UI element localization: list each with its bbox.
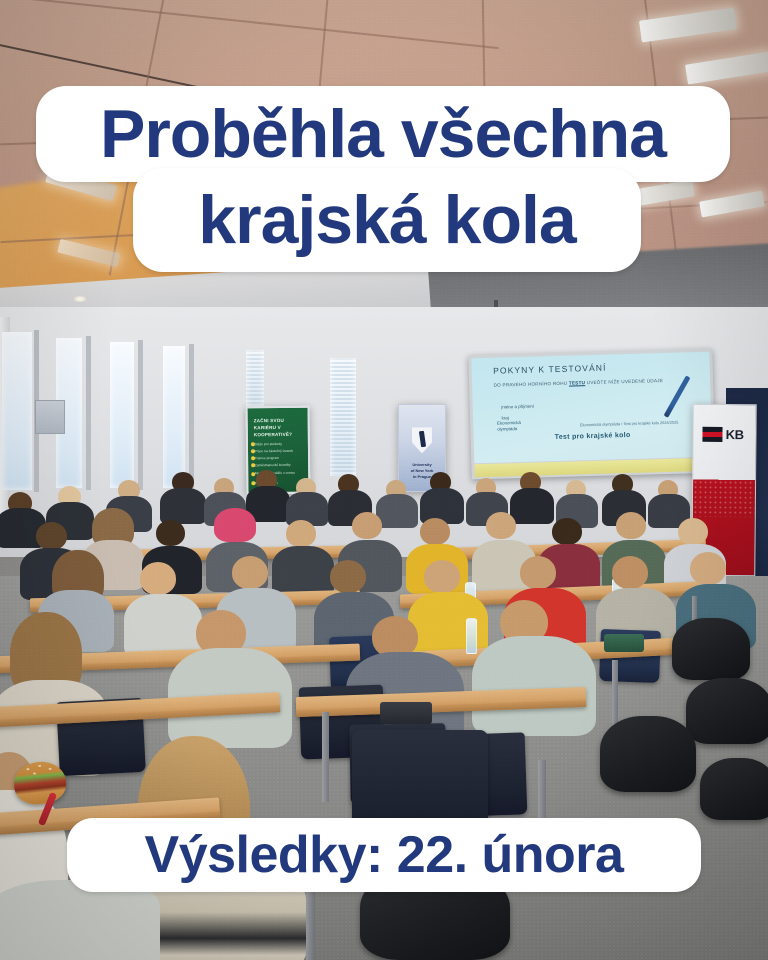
backpack: [700, 758, 768, 820]
footer-card: Výsledky: 22. února: [67, 818, 701, 892]
backpack: [672, 618, 750, 680]
desk-leg: [612, 660, 618, 730]
footer-text: Výsledky: 22. února: [145, 829, 624, 881]
window: [330, 358, 356, 476]
wall-panel-sign: [35, 400, 65, 434]
headline-card-line2: krajská kola: [133, 168, 641, 272]
pencil-case: [604, 634, 644, 652]
window-mullion: [86, 336, 91, 490]
projection-screen-content: POKYNY K TESTOVÁNÍ DO PRAVÉHO HORNÍHO RO…: [471, 352, 712, 464]
projection-screen: POKYNY K TESTOVÁNÍ DO PRAVÉHO HORNÍHO RO…: [468, 349, 715, 480]
screen-subtitle-strong: TESTU: [569, 380, 585, 385]
headline-line2-text: krajská kola: [198, 186, 575, 254]
kooperativa-item: Trainee program: [255, 456, 304, 461]
eo-logo-text: Ekonomická olympiáda: [497, 420, 521, 433]
window: [163, 346, 185, 488]
kooperativa-heading: ZAČNI SVOU KARIÉRU V KOOPERATIVĚ?: [254, 418, 303, 439]
screen-title: POKYNY K TESTOVÁNÍ: [493, 363, 607, 376]
screen-subtitle: DO PRAVÉHO HORNÍHO ROHU TESTU UVEĎTE NÍŽ…: [494, 377, 696, 390]
backpack: [686, 678, 768, 744]
kb-logo-text: KB: [726, 427, 744, 442]
water-bottle: [466, 618, 477, 654]
window-mullion: [189, 344, 194, 490]
backpack: [600, 716, 696, 792]
window: [110, 342, 134, 488]
window: [246, 350, 264, 406]
poster-image: EPSON POKYNY K TESTOVÁNÍ DO PRAVÉHO HORN…: [0, 0, 768, 960]
kooperativa-item: Zaměstnanecké benefity: [255, 463, 304, 468]
desk-leg: [322, 712, 329, 802]
downlight: [74, 296, 86, 302]
pencil-case: [380, 702, 432, 724]
kb-dot-pattern: [693, 480, 755, 518]
window: [2, 332, 32, 490]
kb-logo-icon: [702, 427, 722, 442]
kooperativa-item: Stáže pro studenty: [255, 442, 304, 447]
screen-footnote: Ekonomická olympiáda • Test pro krajské …: [559, 419, 700, 428]
kooperativa-item: Práce na částečný úvazek: [255, 449, 304, 454]
screen-bullet: jméno a příjmení: [501, 404, 534, 410]
window-mullion: [138, 340, 143, 490]
headline-line1-text: Proběhla všechna: [100, 100, 666, 168]
